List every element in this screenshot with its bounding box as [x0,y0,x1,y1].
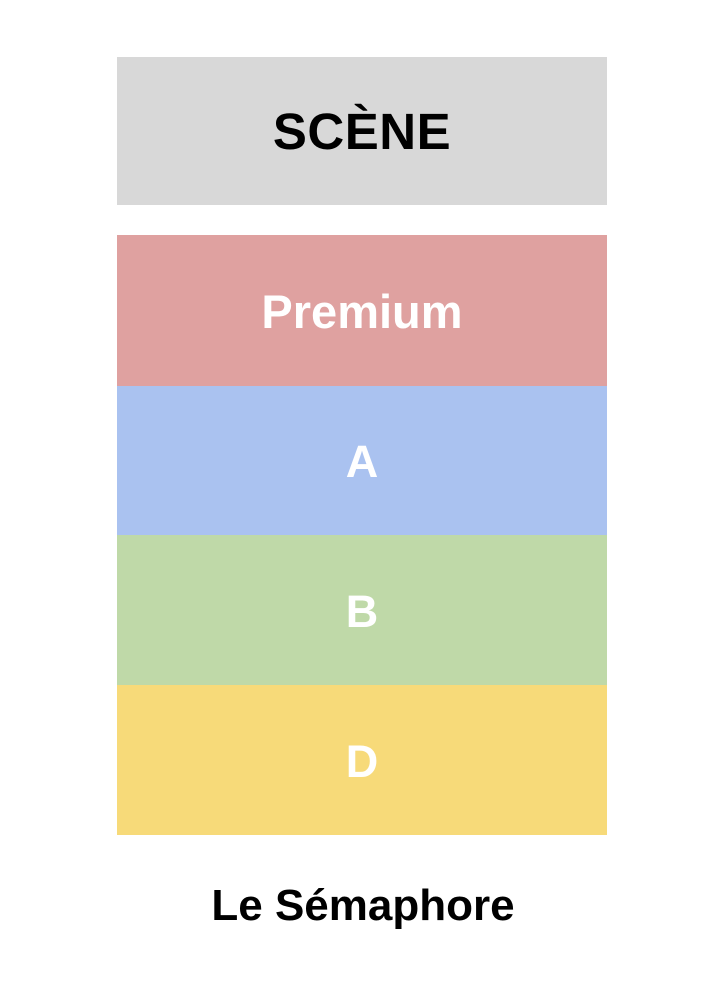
sections-container: Premium A B D [117,235,607,835]
section-b[interactable]: B [117,535,607,685]
section-d-label: D [346,739,379,784]
stage-block: SCÈNE [117,57,607,205]
section-b-label: B [346,589,379,634]
stage-label: SCÈNE [273,106,451,157]
seating-map: SCÈNE Premium A B D Le Sémaphore [0,0,726,984]
section-a[interactable]: A [117,386,607,535]
section-a-label: A [346,439,379,484]
venue-name: Le Sémaphore [0,880,726,933]
section-d[interactable]: D [117,685,607,835]
section-premium-label: Premium [261,288,462,335]
section-premium[interactable]: Premium [117,235,607,386]
